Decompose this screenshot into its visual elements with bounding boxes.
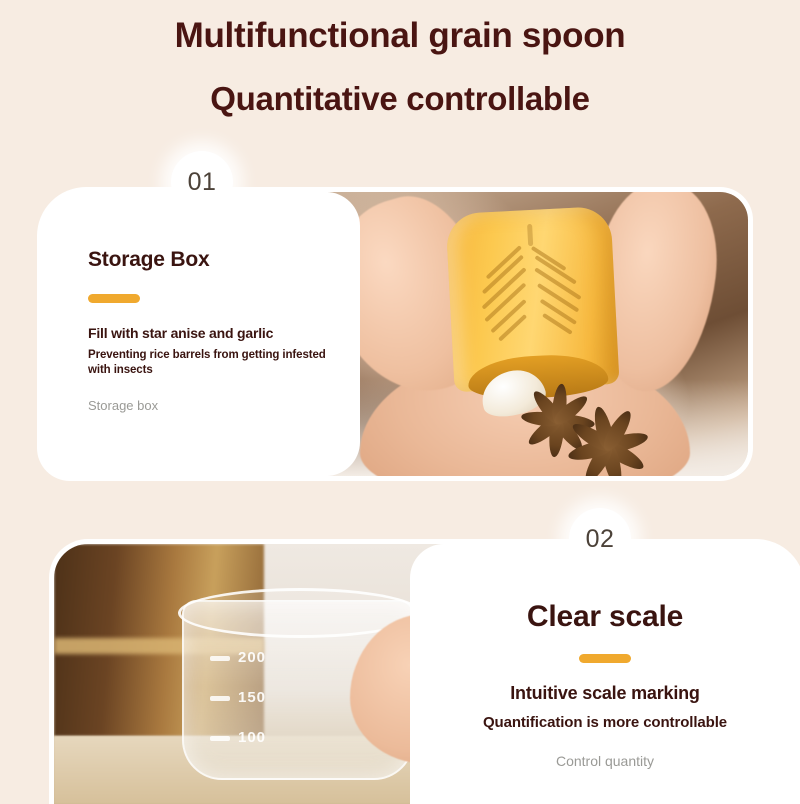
scale-tick (210, 696, 230, 701)
feature-card-storage-box: Storage Box Fill with star anise and gar… (42, 192, 748, 476)
scale-tick (210, 656, 230, 661)
card-text-panel: Clear scale Intuitive scale marking Quan… (410, 544, 800, 804)
yellow-storage-box (445, 206, 619, 392)
card-body-text: Quantification is more controllable (410, 713, 800, 733)
scale-label-150: 150 (238, 689, 266, 706)
scale-label-100: 100 (238, 729, 266, 746)
card-caption: Control quantity (410, 753, 800, 769)
page-title-line-2: Quantitative controllable (0, 80, 800, 118)
scale-label-200: 200 (238, 649, 266, 666)
card-text-panel: Storage Box Fill with star anise and gar… (42, 192, 360, 476)
feature-card-clear-scale: 200 150 100 Clear scale Intuitive scale … (54, 544, 800, 804)
card-lead-text: Intuitive scale marking (410, 683, 800, 704)
box-slot (527, 224, 533, 246)
accent-divider (579, 654, 631, 663)
card-heading: Clear scale (410, 600, 800, 634)
step-badge-01: 01 (171, 151, 233, 213)
card-lead-text: Fill with star anise and garlic (88, 325, 338, 341)
accent-divider (88, 294, 140, 303)
box-vent-pattern-icon (473, 251, 591, 338)
card-body-text: Preventing rice barrels from getting inf… (88, 348, 338, 378)
step-badge-02: 02 (569, 508, 631, 570)
card-caption: Storage box (88, 398, 338, 413)
scale-tick (210, 736, 230, 741)
page-header: Multifunctional grain spoon Quantitative… (0, 0, 800, 118)
page-title-line-1: Multifunctional grain spoon (0, 16, 800, 56)
card-heading: Storage Box (88, 248, 338, 272)
product-photo-storage-box (328, 192, 748, 476)
